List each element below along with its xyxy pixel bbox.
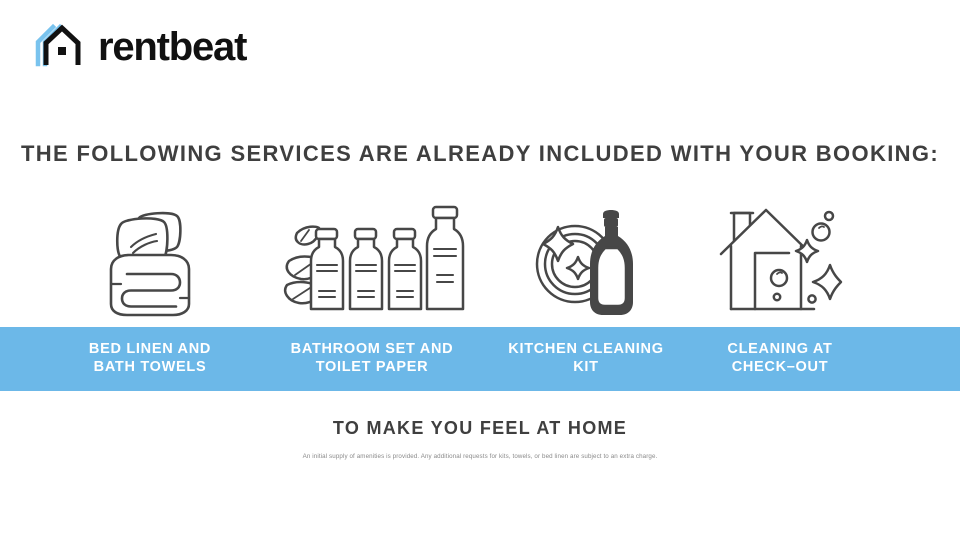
disclaimer-text: An initial supply of amenities is provid… (0, 453, 960, 460)
service-label-band: BED LINEN AND BATH TOWELS BATHROOM SET A… (0, 327, 960, 391)
tagline: TO MAKE YOU FEEL AT HOME (0, 418, 960, 439)
service-label-bathroom-set: BATHROOM SET AND TOILET PAPER (277, 327, 467, 391)
service-label-text: KITCHEN CLEANING KIT (508, 341, 663, 376)
service-label-text: BED LINEN AND BATH TOWELS (89, 341, 211, 376)
brand-wordmark: rentbeat (98, 27, 246, 67)
service-label-checkout-cleaning: CLEANING AT CHECK–OUT (685, 327, 875, 391)
service-icon-bed-linen (55, 196, 245, 324)
service-label-text: CLEANING AT CHECK–OUT (727, 341, 832, 376)
service-label-bed-linen: BED LINEN AND BATH TOWELS (55, 327, 245, 391)
service-icon-bathroom-set (277, 196, 467, 324)
page-title: THE FOLLOWING SERVICES ARE ALREADY INCLU… (0, 141, 960, 167)
service-label-text: BATHROOM SET AND TOILET PAPER (291, 341, 454, 376)
service-icon-kitchen-kit (491, 196, 681, 324)
service-label-kitchen-kit: KITCHEN CLEANING KIT (491, 327, 681, 391)
brand-logo: rentbeat (32, 18, 246, 74)
service-icon-row (0, 196, 960, 324)
house-logo-icon (32, 18, 88, 74)
service-icon-checkout-cleaning (685, 196, 875, 324)
